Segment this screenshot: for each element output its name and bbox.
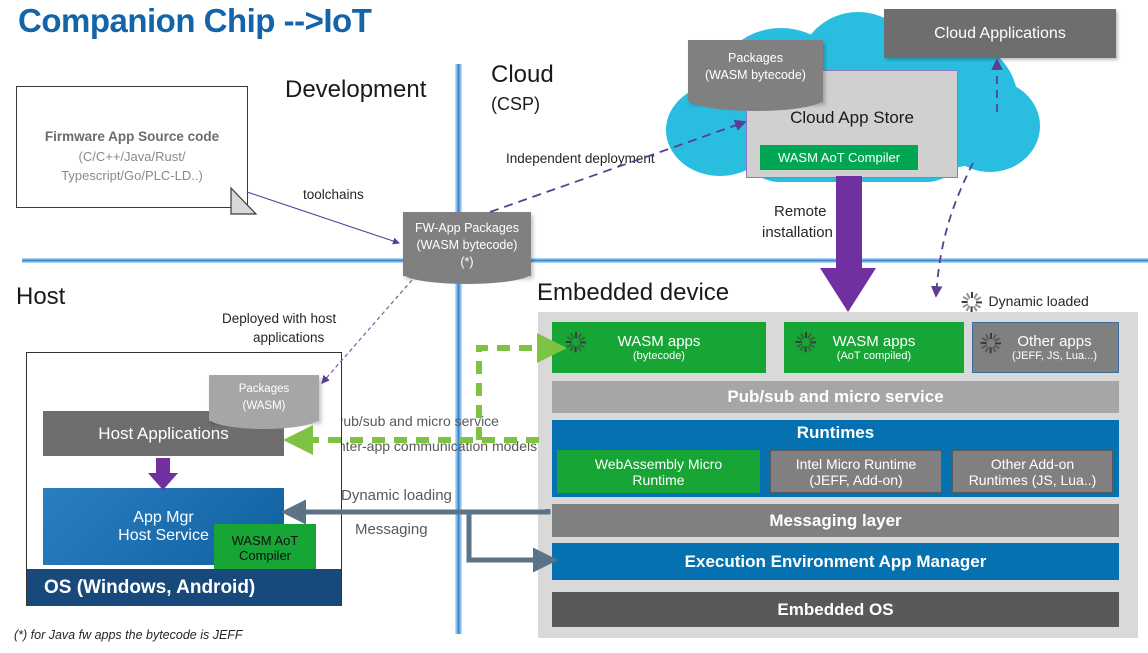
label-pubsub-micro-service: Pub/sub and micro service bbox=[334, 412, 499, 430]
runtime-item-0: WebAssembly Micro Runtime bbox=[557, 450, 760, 493]
cloud-applications-label: Cloud Applications bbox=[934, 25, 1066, 43]
sunburst-icon-app-0 bbox=[564, 330, 588, 352]
host-applications-label: Host Applications bbox=[98, 424, 228, 444]
callout-cloud-packages: Packages (WASM bytecode) bbox=[688, 40, 823, 102]
firmware-box-line2: Typescript/Go/PLC-LD..) bbox=[61, 166, 203, 185]
label-remote-installation-line2: installation bbox=[762, 224, 833, 242]
callout-host-packages-line2: (WASM) bbox=[209, 398, 319, 415]
embedded-app-sub-0: (bytecode) bbox=[633, 350, 685, 362]
embedded-os-bar: Embedded OS bbox=[552, 592, 1119, 627]
label-messaging: Messaging bbox=[355, 521, 428, 539]
cloud-wasm-aot-compiler-box: WASM AoT Compiler bbox=[760, 145, 918, 170]
runtime-item-0-line2: Runtime bbox=[632, 472, 684, 488]
callout-cloud-packages-line2: (WASM bytecode) bbox=[688, 67, 823, 84]
label-remote-installation-line1: Remote bbox=[774, 203, 827, 221]
embedded-runtimes-label: Runtimes bbox=[797, 423, 874, 442]
runtime-item-2-line1: Other Add-on bbox=[991, 456, 1074, 472]
runtime-item-2: Other Add-on Runtimes (JS, Lua..) bbox=[952, 450, 1113, 493]
arrow-remote-installation bbox=[820, 176, 876, 312]
callout-host-packages-line1: Packages bbox=[209, 381, 319, 398]
divider-vertical-left bbox=[455, 64, 462, 634]
callout-cloud-packages-line1: Packages bbox=[688, 50, 823, 67]
section-heading-cloud: Cloud bbox=[491, 61, 554, 89]
callout-fw-line3: (*) bbox=[403, 254, 531, 271]
runtime-item-0-line1: WebAssembly Micro bbox=[595, 456, 722, 472]
host-wasm-aot-compiler-box: WASM AoT Compiler bbox=[214, 524, 316, 571]
footnote: (*) for Java fw apps the bytecode is JEF… bbox=[14, 628, 243, 642]
embedded-os-label: Embedded OS bbox=[777, 600, 893, 620]
firmware-source-box: Firmware App Source code (C/C++/Java/Rus… bbox=[16, 86, 248, 208]
page-title: Companion Chip -->IoT bbox=[18, 2, 371, 40]
label-dynamic-loading: Dynamic loading bbox=[341, 487, 452, 505]
runtime-item-2-line2: Runtimes (JS, Lua..) bbox=[969, 472, 1097, 488]
sunburst-icon-app-2 bbox=[979, 331, 1003, 353]
cloud-wasm-aot-compiler-label: WASM AoT Compiler bbox=[778, 150, 900, 165]
embedded-messaging-layer-label: Messaging layer bbox=[769, 511, 901, 531]
embedded-pubsub-bar: Pub/sub and micro service bbox=[552, 381, 1119, 413]
arrow-messaging bbox=[469, 512, 543, 560]
cloud-app-store-label: Cloud App Store bbox=[747, 108, 957, 128]
callout-fw-app-packages: FW-App Packages (WASM bytecode) (*) bbox=[403, 212, 531, 276]
host-os-bar: OS (Windows, Android) bbox=[27, 569, 341, 606]
embedded-app-manager-label: Execution Environment App Manager bbox=[685, 552, 987, 572]
embedded-app-manager-bar: Execution Environment App Manager bbox=[552, 543, 1119, 580]
label-deployed-with-host-line2: applications bbox=[253, 329, 324, 347]
label-inter-app-communication: Inter-app communication models bbox=[334, 437, 537, 455]
embedded-app-box-1: WASM apps (AoT compiled) bbox=[784, 322, 964, 373]
runtime-item-1: Intel Micro Runtime (JEFF, Add-on) bbox=[770, 450, 942, 493]
divider-horizontal bbox=[22, 258, 1148, 263]
embedded-app-box-2: Other apps (JEFF, JS, Lua...) bbox=[972, 322, 1119, 373]
cloud-applications-box: Cloud Applications bbox=[884, 9, 1116, 58]
embedded-messaging-layer-bar: Messaging layer bbox=[552, 504, 1119, 537]
firmware-box-heading: Firmware App Source code bbox=[45, 127, 219, 147]
embedded-pubsub-label: Pub/sub and micro service bbox=[727, 387, 943, 407]
embedded-app-box-0: WASM apps (bytecode) bbox=[552, 322, 766, 373]
host-app-mgr-line2: Host Service bbox=[118, 527, 209, 545]
sunburst-icon-app-1 bbox=[794, 330, 818, 352]
section-subheading-cloud-csp: (CSP) bbox=[491, 94, 540, 115]
callout-fw-line1: FW-App Packages bbox=[403, 220, 531, 237]
legend-dynamic-loaded-label: Dynamic loaded bbox=[988, 293, 1088, 309]
section-heading-embedded-device: Embedded device bbox=[537, 279, 729, 307]
label-deployed-with-host-line1: Deployed with host bbox=[222, 310, 336, 328]
embedded-app-title-0: WASM apps bbox=[618, 333, 701, 350]
embedded-runtimes-block: Runtimes WebAssembly Micro Runtime Intel… bbox=[552, 420, 1119, 497]
firmware-box-line1: (C/C++/Java/Rust/ bbox=[79, 147, 186, 166]
label-independent-deployment: Independent deployment bbox=[506, 150, 655, 168]
runtime-item-1-line1: Intel Micro Runtime bbox=[796, 456, 917, 472]
embedded-app-sub-2: (JEFF, JS, Lua...) bbox=[1012, 350, 1097, 362]
host-os-label: OS (Windows, Android) bbox=[44, 577, 255, 599]
host-app-mgr-line1: App Mgr bbox=[133, 509, 193, 527]
sunburst-icon bbox=[960, 290, 984, 312]
section-heading-development: Development bbox=[285, 76, 426, 104]
runtime-item-1-line2: (JEFF, Add-on) bbox=[809, 472, 902, 488]
host-wasm-aot-line1: WASM AoT bbox=[232, 533, 299, 548]
embedded-app-title-2: Other apps bbox=[1017, 333, 1091, 350]
callout-fw-line2: (WASM bytecode) bbox=[403, 237, 531, 254]
embedded-app-sub-1: (AoT compiled) bbox=[837, 350, 911, 362]
host-wasm-aot-line2: Compiler bbox=[239, 548, 291, 563]
label-toolchains: toolchains bbox=[303, 186, 364, 204]
embedded-app-title-1: WASM apps bbox=[833, 333, 916, 350]
callout-host-packages: Packages (WASM) bbox=[209, 375, 319, 421]
legend-dynamic-loaded: Dynamic loaded bbox=[960, 290, 1089, 312]
section-heading-host: Host bbox=[16, 283, 65, 311]
